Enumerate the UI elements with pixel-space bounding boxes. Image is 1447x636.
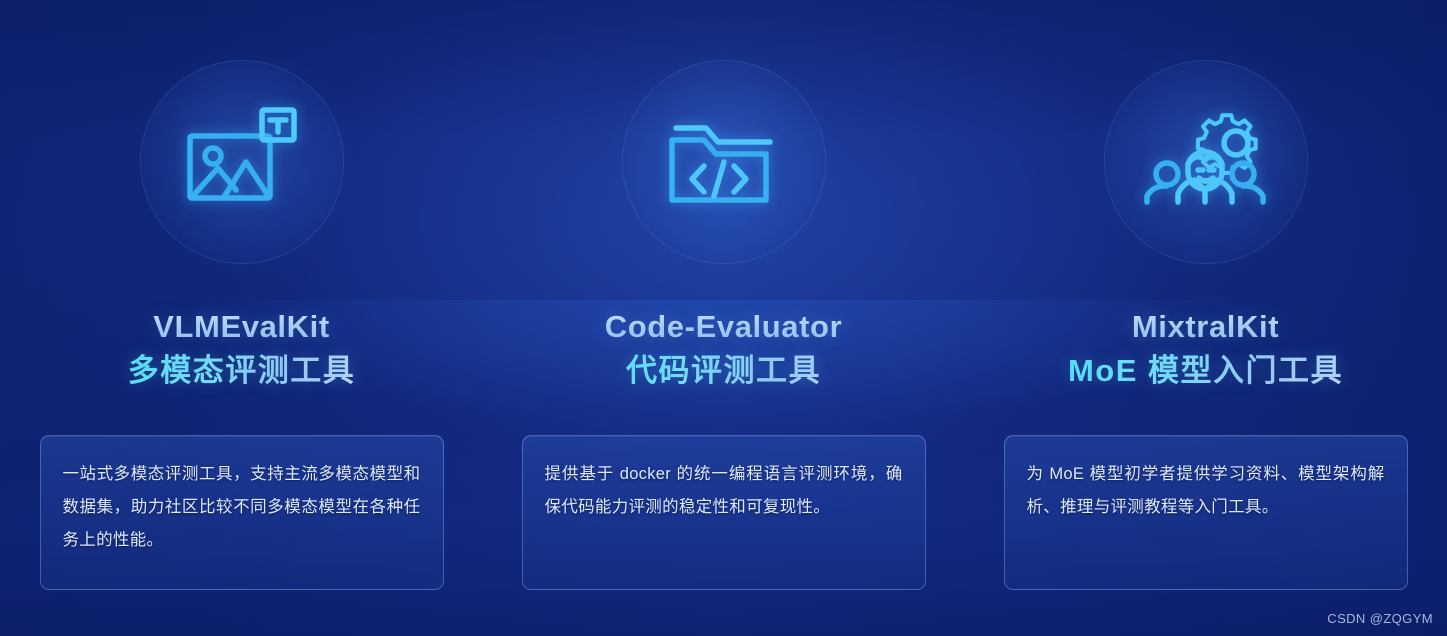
card-title-cn: 代码评测工具 [605,352,843,390]
feature-column-code-evaluator: Code-Evaluator 代码评测工具 提供基于 docker 的统一编程语… [483,0,965,590]
card-title-en: MixtralKit [1068,308,1343,346]
icon-disc-mixtralkit [1104,60,1308,264]
card-title-en: Code-Evaluator [605,308,843,346]
description-card-mixtralkit: 为 MoE 模型初学者提供学习资料、模型架构解析、推理与评测教程等入门工具。 [1004,435,1408,590]
titles-code-evaluator: Code-Evaluator 代码评测工具 [605,308,843,391]
description-card-vlmevalkit: 一站式多模态评测工具，支持主流多模态模型和数据集，助力社区比较不同多模态模型在各… [40,435,444,590]
code-folder-icon [660,98,788,226]
team-gear-icon [1142,98,1270,226]
icon-disc-vlmevalkit [140,60,344,264]
card-title-cn: 多模态评测工具 [128,352,356,390]
titles-mixtralkit: MixtralKit MoE 模型入门工具 [1068,308,1343,391]
icon-disc-code-evaluator [622,60,826,264]
feature-column-mixtralkit: MixtralKit MoE 模型入门工具 为 MoE 模型初学者提供学习资料、… [965,0,1447,590]
feature-card-row: VLMEvalKit 多模态评测工具 一站式多模态评测工具，支持主流多模态模型和… [0,0,1447,636]
card-description: 提供基于 docker 的统一编程语言评测环境，确保代码能力评测的稳定性和可复现… [545,458,903,524]
feature-column-vlmevalkit: VLMEvalKit 多模态评测工具 一站式多模态评测工具，支持主流多模态模型和… [1,0,483,590]
card-description: 一站式多模态评测工具，支持主流多模态模型和数据集，助力社区比较不同多模态模型在各… [63,458,421,557]
watermark: CSDN @ZQGYM [1327,611,1433,626]
card-title-cn: MoE 模型入门工具 [1068,352,1343,390]
image-text-multimodal-icon [178,98,306,226]
card-description: 为 MoE 模型初学者提供学习资料、模型架构解析、推理与评测教程等入门工具。 [1027,458,1385,524]
card-title-en: VLMEvalKit [128,308,356,346]
description-card-code-evaluator: 提供基于 docker 的统一编程语言评测环境，确保代码能力评测的稳定性和可复现… [522,435,926,590]
titles-vlmevalkit: VLMEvalKit 多模态评测工具 [128,308,356,391]
